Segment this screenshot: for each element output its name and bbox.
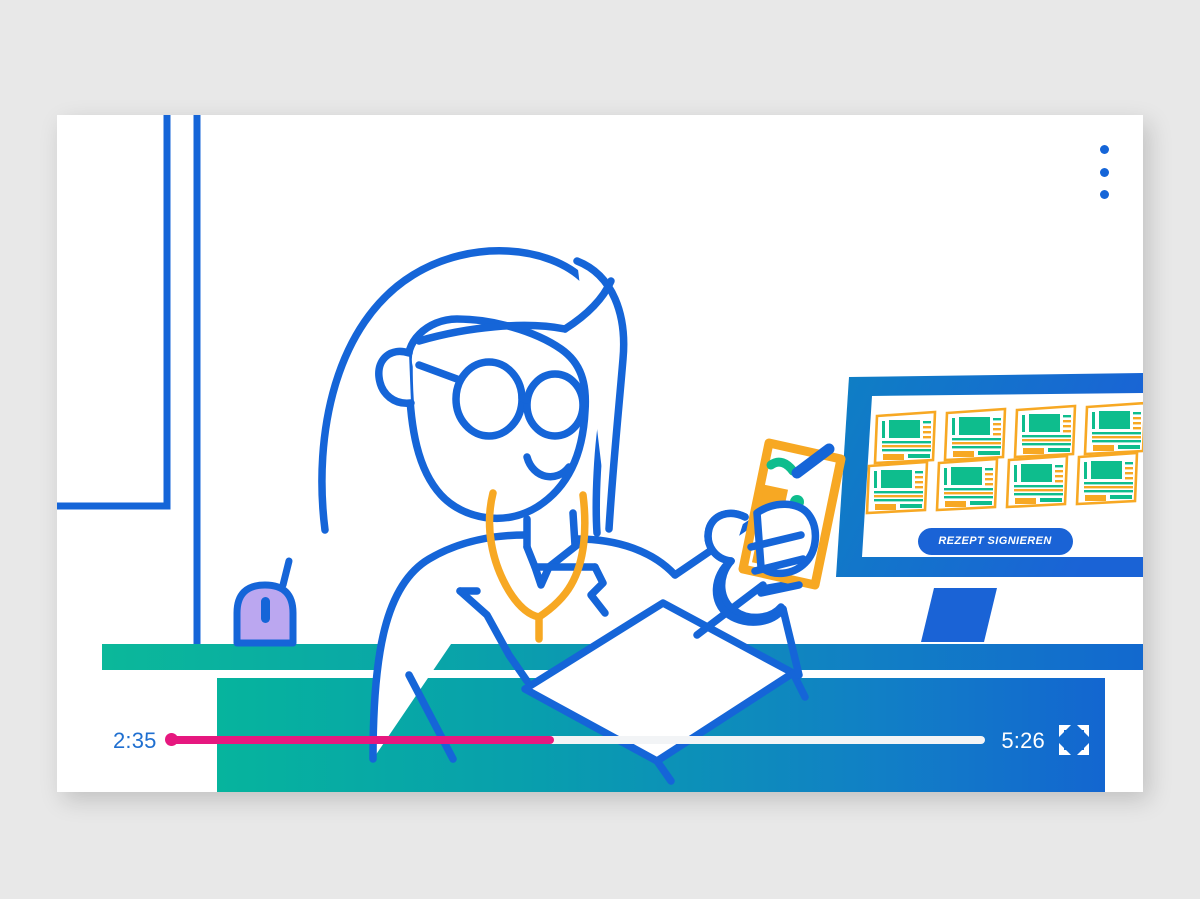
- kebab-dot-icon: [1100, 168, 1109, 177]
- video-player-card: Pharmacist signing electronic prescripti…: [57, 115, 1143, 792]
- monitor-stand: [921, 588, 997, 642]
- progress-bar-fill: [171, 736, 554, 744]
- kebab-dot-icon: [1100, 145, 1109, 154]
- progress-bar[interactable]: 47: [171, 736, 986, 744]
- rezept-signieren-button-illustration: [918, 528, 1073, 555]
- total-time-label: 5:26: [1001, 728, 1045, 754]
- progress-bar-handle[interactable]: [165, 733, 178, 746]
- prescription-card: [1077, 453, 1137, 504]
- more-options-menu-button[interactable]: [1091, 145, 1117, 199]
- prescription-card: [875, 412, 935, 463]
- prescription-card: [1007, 456, 1067, 507]
- prescription-card: [945, 409, 1005, 460]
- fullscreen-icon[interactable]: [1059, 725, 1089, 755]
- kebab-dot-icon: [1100, 190, 1109, 199]
- video-controls-bar: 2:35 47 5:26: [57, 687, 1143, 792]
- prescription-card: [867, 462, 927, 513]
- prescription-card: [937, 459, 997, 510]
- current-time-label: 2:35: [113, 728, 157, 754]
- prescription-card: [1015, 406, 1075, 457]
- prescription-card: [1085, 403, 1143, 454]
